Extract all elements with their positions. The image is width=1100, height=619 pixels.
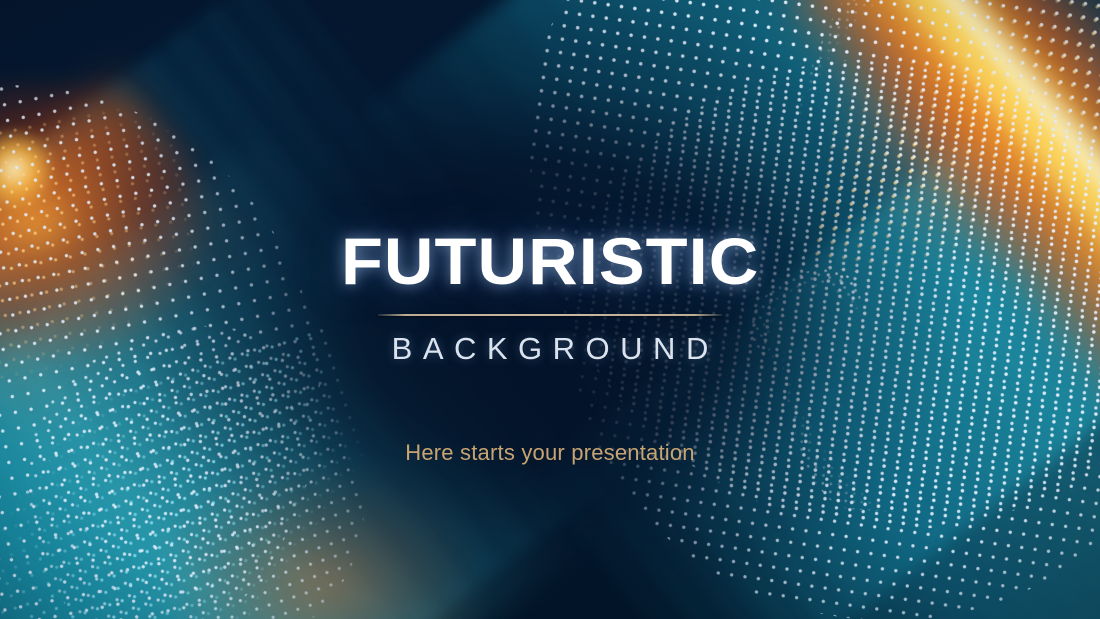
slide-title: FUTURISTIC xyxy=(341,228,759,294)
orange-glow-bottom xyxy=(170,469,470,619)
slide-subtitle: BACKGROUND xyxy=(381,333,719,364)
orange-glow-left-core xyxy=(0,130,54,208)
presentation-slide: FUTURISTIC BACKGROUND Here starts your p… xyxy=(0,0,1100,619)
slide-tagline: Here starts your presentation xyxy=(405,442,695,464)
